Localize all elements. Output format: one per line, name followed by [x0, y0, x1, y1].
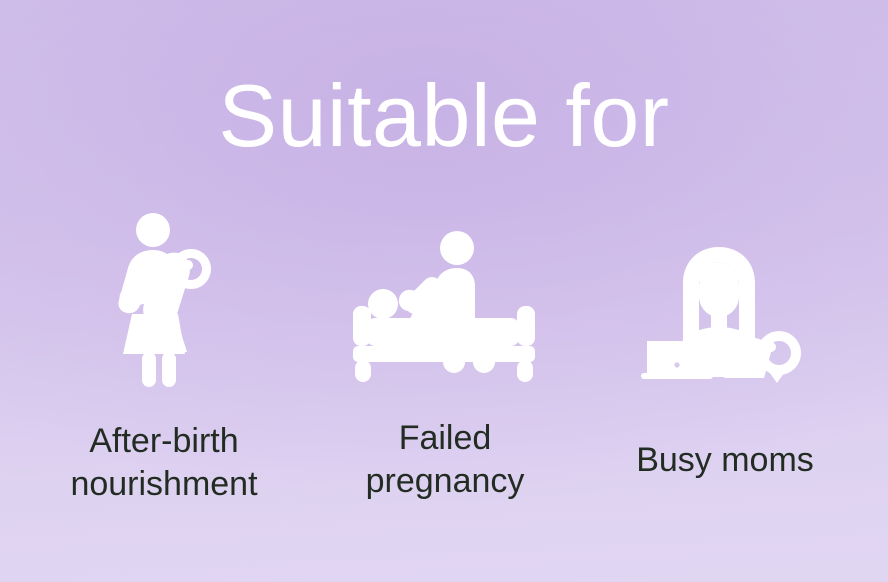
mother-holding-baby-icon — [112, 205, 216, 387]
suitable-for-item-3: Busy moms — [580, 205, 870, 482]
page-title: Suitable for — [0, 70, 888, 162]
suitable-for-slide: Suitable for — [0, 0, 888, 582]
suitable-for-item-3-caption: Busy moms — [636, 439, 814, 482]
suitable-for-item-2: Failed pregnancy — [310, 205, 580, 503]
suitable-for-item-1: After-birth nourishment — [18, 205, 310, 506]
suitable-for-item-2-caption: Failed pregnancy — [366, 417, 525, 503]
working-mom-with-laptop-and-baby-icon — [639, 205, 811, 389]
patient-in-hospital-bed-with-caregiver-icon — [347, 205, 543, 389]
suitable-for-item-1-caption: After-birth nourishment — [70, 420, 257, 506]
suitable-for-items: After-birth nourishment — [0, 205, 888, 525]
